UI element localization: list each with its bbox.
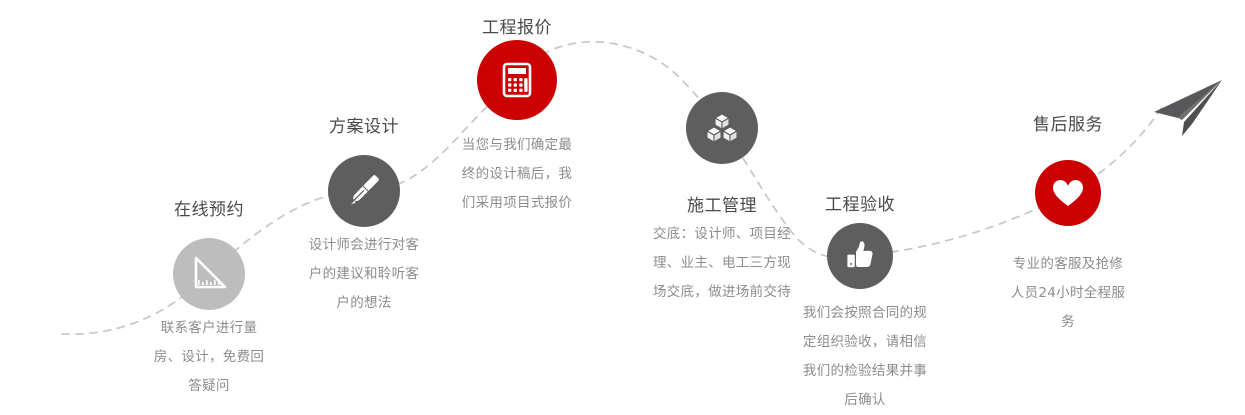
thumbs-up-icon (841, 237, 879, 275)
desc-line: 我们会按照合同的规 (765, 299, 965, 328)
desc-line: 答疑问 (119, 372, 299, 401)
step-badge-5[interactable] (827, 223, 893, 289)
step-badge-3[interactable] (477, 40, 557, 120)
desc-line: 户的想法 (274, 289, 454, 318)
desc-line: 联系客户进行量 (119, 314, 299, 343)
desc-line: 交底：设计师、项目经 (612, 220, 832, 249)
step-badge-4[interactable] (686, 92, 758, 164)
desc-line: 后确认 (765, 386, 965, 415)
step-title-1: 在线预约 (109, 195, 309, 220)
desc-line: 终的设计稿后，我 (427, 160, 607, 189)
desc-line: 我们的检验结果并事 (765, 357, 965, 386)
desc-line: 们采用项目式报价 (427, 189, 607, 218)
step-badge-1[interactable] (173, 238, 245, 310)
flow-diagram: 在线预约 联系客户进行量 房、设计，免费回 答疑 (0, 0, 1245, 402)
desc-line: 户的建议和聆听客 (274, 260, 454, 289)
desc-line: 定组织验收，请相信 (765, 328, 965, 357)
desc-line: 理、业主、电工三方现 (612, 249, 832, 278)
triangle-ruler-icon (189, 254, 229, 294)
step-badge-6[interactable] (1035, 160, 1101, 226)
desc-line: 当您与我们确定最 (427, 131, 607, 160)
fountain-pen-icon (344, 171, 384, 211)
blocks-icon (702, 108, 742, 148)
desc-line: 房、设计，免费回 (119, 343, 299, 372)
step-title-5: 工程验收 (760, 190, 960, 215)
step-desc-3: 当您与我们确定最 终的设计稿后，我 们采用项目式报价 (427, 131, 607, 218)
desc-line: 专业的客服及抢修 (978, 250, 1158, 279)
step-badge-2[interactable] (328, 155, 400, 227)
desc-line: 务 (978, 308, 1158, 337)
step-title-6: 售后服务 (968, 110, 1168, 135)
heart-icon (1049, 174, 1087, 212)
calculator-icon (495, 58, 539, 102)
step-desc-4: 交底：设计师、项目经 理、业主、电工三方现 场交底，做进场前交待 (612, 220, 832, 307)
step-desc-6: 专业的客服及抢修 人员24小时全程服 务 (978, 250, 1158, 337)
step-title-3: 工程报价 (417, 13, 617, 38)
desc-line: 设计师会进行对客 (274, 231, 454, 260)
step-desc-1: 联系客户进行量 房、设计，免费回 答疑问 (119, 314, 299, 401)
step-desc-2: 设计师会进行对客 户的建议和聆听客 户的想法 (274, 231, 454, 318)
step-desc-5: 我们会按照合同的规 定组织验收，请相信 我们的检验结果并事 后确认 (765, 299, 965, 415)
desc-line: 人员24小时全程服 (978, 279, 1158, 308)
